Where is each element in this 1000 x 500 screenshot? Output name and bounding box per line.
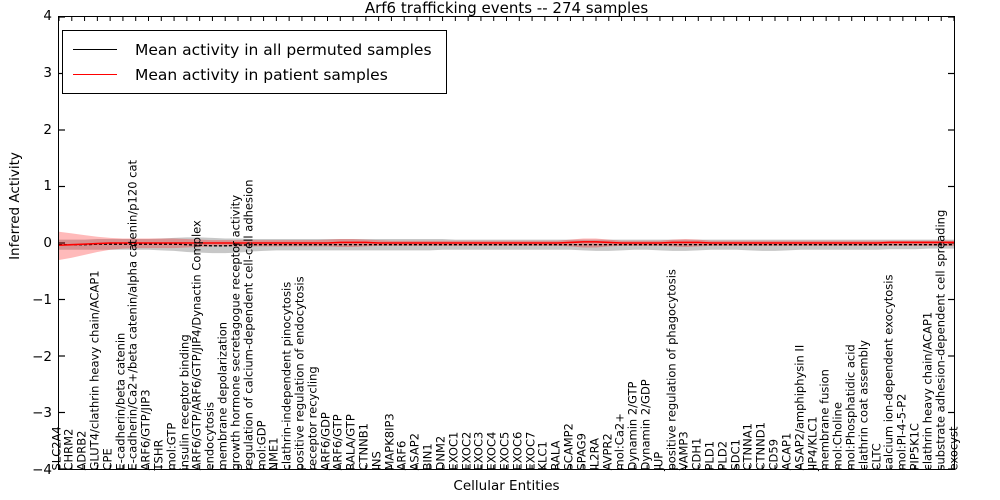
y-tick-label: 2 <box>0 122 52 138</box>
y-tick-label: 4 <box>0 8 52 24</box>
legend-item: Mean activity in patient samples <box>73 62 432 87</box>
legend-label-patient: Mean activity in patient samples <box>135 66 388 84</box>
y-tick-label: −3 <box>0 405 52 421</box>
y-tick-label: −4 <box>0 462 52 478</box>
legend: Mean activity in all permuted samples Me… <box>62 30 447 94</box>
legend-swatch-permuted <box>73 49 117 50</box>
y-tick-label: 1 <box>0 178 52 194</box>
figure: Arf6 trafficking events -- 274 samples I… <box>0 0 1000 500</box>
y-tick-label: −2 <box>0 349 52 365</box>
x-axis-label: Cellular Entities <box>58 478 955 494</box>
y-tick-label: 0 <box>0 235 52 251</box>
legend-label-permuted: Mean activity in all permuted samples <box>135 41 432 59</box>
legend-swatch-patient <box>73 74 117 75</box>
legend-item: Mean activity in all permuted samples <box>73 37 432 62</box>
y-tick-label: −1 <box>0 292 52 308</box>
y-tick-label: 3 <box>0 65 52 81</box>
